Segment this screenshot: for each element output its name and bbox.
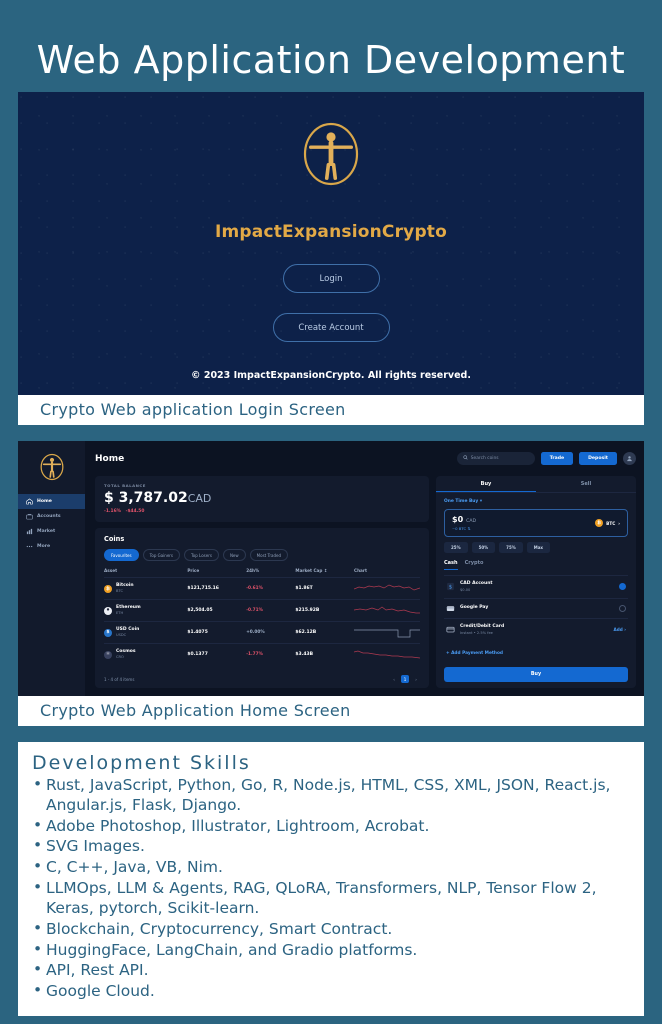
table-header-row: Asset Price 24h% Market Cap ↕ Chart bbox=[104, 568, 420, 578]
avatar[interactable] bbox=[623, 452, 636, 465]
coins-title: Coins bbox=[104, 535, 420, 543]
sidebar-label-accounts: Accounts bbox=[37, 514, 61, 519]
table-row[interactable]: ⚛ Cosmos CRO $0.1377 bbox=[104, 644, 420, 666]
dashboard-main: Home Search coins Trade Deposit bbox=[85, 441, 644, 696]
sparkline-chart bbox=[354, 604, 420, 617]
balance-value: $ 3,787.02 bbox=[104, 490, 188, 506]
table-row[interactable]: $ USD Coin USDC $1.4075 bbox=[104, 622, 420, 644]
payment-name: Google Pay bbox=[460, 605, 488, 611]
coin-price: $2,504.05 bbox=[187, 600, 246, 622]
payment-radio[interactable] bbox=[619, 605, 626, 612]
tab-cash[interactable]: Cash bbox=[444, 560, 458, 570]
tab-crypto[interactable]: Crypto bbox=[465, 560, 484, 570]
sidebar-item-accounts[interactable]: Accounts bbox=[18, 509, 85, 524]
coin-symbol: CRO bbox=[116, 655, 124, 659]
payment-method-cad-account[interactable]: $ CAD Account $0.00 bbox=[444, 575, 628, 598]
slide-root: Web Application Development ImpactExpans… bbox=[0, 0, 662, 1024]
dashboard-caption: Crypto Web Application Home Screen bbox=[18, 696, 644, 726]
chevron-down-icon: ▾ bbox=[480, 499, 482, 504]
sidebar-label-more: More bbox=[37, 544, 50, 549]
sidebar-item-more[interactable]: More bbox=[18, 539, 85, 554]
page-1-button[interactable]: 1 bbox=[401, 675, 409, 683]
coins-table: Asset Price 24h% Market Cap ↕ Chart bbox=[104, 568, 420, 665]
skills-panel: Development Skills Rust, JavaScript, Pyt… bbox=[18, 742, 644, 1016]
payment-method-google-pay[interactable]: Google Pay bbox=[444, 598, 628, 618]
coin-market-cap: $215.92B bbox=[295, 600, 354, 622]
coin-change: -0.71% bbox=[246, 600, 295, 622]
table-row[interactable]: ₿ Bitcoin BTC $121,715.16 bbox=[104, 578, 420, 600]
amount-row: $0CAD bbox=[452, 515, 476, 524]
add-payment-method-button[interactable]: + Add Payment Method bbox=[444, 646, 628, 656]
payment-name: CAD Account bbox=[460, 581, 493, 587]
coin-market-cap: $62.12B bbox=[295, 622, 354, 644]
login-screen: ImpactExpansionCrypto Login Create Accou… bbox=[18, 92, 644, 395]
percent-75-button[interactable]: 75% bbox=[499, 542, 523, 553]
col-market-cap[interactable]: Market Cap ↕ bbox=[295, 568, 354, 578]
submit-buy-button[interactable]: Buy bbox=[444, 667, 628, 682]
cosmos-icon: ⚛ bbox=[104, 651, 112, 659]
vitruvian-logo-icon bbox=[295, 118, 367, 194]
ethereum-icon: ♦ bbox=[104, 607, 112, 615]
skills-list: Rust, JavaScript, Python, Go, R, Node.js… bbox=[32, 776, 630, 1002]
percent-buttons: 25% 50% 75% Max bbox=[444, 542, 628, 553]
percent-25-button[interactable]: 25% bbox=[444, 542, 468, 553]
chart-bar-icon bbox=[26, 528, 33, 535]
dashboard-header: Home Search coins Trade Deposit bbox=[85, 441, 644, 476]
page-prev-button[interactable]: ‹ bbox=[390, 675, 398, 683]
coin-change: -1.77% bbox=[246, 644, 295, 666]
payment-radio-selected[interactable] bbox=[619, 583, 626, 590]
payment-sub: Instant • 2.5% fee bbox=[460, 631, 493, 635]
payment-name: Credit/Debit Card bbox=[460, 624, 504, 630]
coins-card: Coins Favourites Top Gainers Top Losers … bbox=[95, 528, 429, 688]
amount-currency: CAD bbox=[466, 519, 476, 524]
balance-amount: $ 3,787.02CAD bbox=[104, 490, 420, 506]
coin-name: Ethereum bbox=[116, 605, 141, 611]
coin-symbol: USDC bbox=[116, 633, 126, 637]
col-chart: Chart bbox=[354, 568, 420, 578]
header-title: Home bbox=[95, 454, 451, 464]
home-icon bbox=[26, 498, 33, 505]
login-button[interactable]: Login bbox=[283, 264, 380, 293]
coin-symbol: BTC bbox=[116, 589, 123, 593]
sidebar-label-home: Home bbox=[37, 499, 52, 504]
payment-method-credit-card[interactable]: Credit/Debit Card Instant • 2.5% fee Add… bbox=[444, 618, 628, 641]
ellipsis-icon bbox=[26, 543, 33, 550]
frequency-selector[interactable]: One Time Buy ▾ bbox=[444, 499, 628, 504]
coin-selector-label: BTC bbox=[606, 521, 615, 526]
sparkline-chart bbox=[354, 648, 420, 661]
login-caption: Crypto Web application Login Screen bbox=[18, 395, 644, 425]
list-item: Adobe Photoshop, Illustrator, Lightroom,… bbox=[32, 817, 630, 837]
coin-price: $1.4075 bbox=[187, 622, 246, 644]
col-change: 24h% bbox=[246, 568, 295, 578]
amount-input[interactable]: $0CAD ~0 BTC ⇅ ₿ BTC bbox=[444, 509, 628, 537]
payment-tabs: Cash Crypto bbox=[444, 560, 628, 570]
briefcase-icon bbox=[26, 513, 33, 520]
coins-tabs: Favourites Top Gainers Top Losers New Mo… bbox=[104, 549, 420, 561]
tab-new[interactable]: New bbox=[223, 549, 246, 561]
usdcoin-icon: $ bbox=[104, 629, 112, 637]
coin-symbol: ETH bbox=[116, 611, 123, 615]
search-input[interactable]: Search coins bbox=[457, 452, 535, 465]
list-item: Google Cloud. bbox=[32, 982, 630, 1002]
tab-top-gainers[interactable]: Top Gainers bbox=[143, 549, 180, 561]
payment-sub: $0.00 bbox=[460, 588, 470, 592]
balance-change-pct: -1.16% bbox=[104, 509, 121, 514]
wallet-icon bbox=[446, 604, 455, 613]
sparkline-chart bbox=[354, 626, 420, 639]
items-count: 1 - 4 of 4 items bbox=[104, 677, 134, 682]
tab-sell[interactable]: Sell bbox=[536, 476, 636, 492]
amount-converted: ~0 BTC ⇅ bbox=[452, 526, 476, 531]
skills-heading: Development Skills bbox=[32, 752, 630, 774]
left-column: TOTAL BALANCE $ 3,787.02CAD -1.16% -$44.… bbox=[95, 476, 429, 688]
list-item: SVG Images. bbox=[32, 837, 630, 857]
dollar-icon: $ bbox=[446, 582, 455, 591]
dashboard-screen: Home Accounts Market bbox=[18, 441, 644, 696]
search-icon bbox=[463, 455, 468, 462]
list-item: Rust, JavaScript, Python, Go, R, Node.js… bbox=[32, 776, 630, 816]
chevron-right-icon: › bbox=[618, 521, 620, 526]
percent-50-button[interactable]: 50% bbox=[472, 542, 496, 553]
list-item: HuggingFace, LangChain, and Gradio platf… bbox=[32, 941, 630, 961]
col-price: Price bbox=[187, 568, 246, 578]
table-row[interactable]: ♦ Ethereum ETH $2,504.05 bbox=[104, 600, 420, 622]
col-asset: Asset bbox=[104, 568, 187, 578]
order-form: One Time Buy ▾ $0CAD ~0 BTC ⇅ bbox=[436, 493, 636, 656]
coin-name: Cosmos bbox=[116, 649, 136, 655]
bitcoin-icon: ₿ bbox=[595, 519, 603, 527]
card-icon bbox=[446, 625, 455, 634]
balance-currency: CAD bbox=[188, 492, 212, 505]
right-column: Buy Sell One Time Buy ▾ bbox=[436, 476, 636, 688]
sidebar-label-market: Market bbox=[37, 529, 55, 534]
sidebar: Home Accounts Market bbox=[18, 441, 85, 696]
bitcoin-icon: ₿ bbox=[104, 585, 112, 593]
tab-top-losers[interactable]: Top Losers bbox=[184, 549, 219, 561]
table-footer: 1 - 4 of 4 items ‹ 1 › bbox=[104, 670, 420, 683]
amount-value: $0 bbox=[452, 515, 463, 524]
list-item: API, Rest API. bbox=[32, 961, 630, 981]
swap-icon[interactable]: ⇅ bbox=[467, 526, 470, 531]
coin-change: +0.00% bbox=[246, 622, 295, 644]
dashboard-body: TOTAL BALANCE $ 3,787.02CAD -1.16% -$44.… bbox=[85, 476, 644, 696]
coin-price: $121,715.16 bbox=[187, 578, 246, 600]
coin-price: $0.1377 bbox=[187, 644, 246, 666]
brand-name: ImpactExpansionCrypto bbox=[215, 222, 447, 242]
percent-max-button[interactable]: Max bbox=[527, 542, 550, 553]
svg-text:$: $ bbox=[449, 585, 452, 591]
pagination: ‹ 1 › bbox=[390, 675, 420, 683]
page-title: Web Application Development bbox=[0, 0, 662, 92]
deposit-button[interactable]: Deposit bbox=[579, 452, 617, 465]
copyright-footer: © 2023 ImpactExpansionCrypto. All rights… bbox=[18, 370, 644, 381]
tab-favourites[interactable]: Favourites bbox=[104, 549, 139, 561]
coin-change: -0.61% bbox=[246, 578, 295, 600]
sidebar-item-market[interactable]: Market bbox=[18, 524, 85, 539]
add-card-button[interactable]: Add › bbox=[614, 627, 626, 632]
order-panel: Buy Sell One Time Buy ▾ bbox=[436, 476, 636, 688]
balance-change-abs: -$44.50 bbox=[126, 509, 145, 514]
tab-buy[interactable]: Buy bbox=[436, 476, 536, 492]
login-screenshot: ImpactExpansionCrypto Login Create Accou… bbox=[18, 92, 644, 425]
sidebar-item-home[interactable]: Home bbox=[18, 494, 85, 509]
coin-market-cap: $3.43B bbox=[295, 644, 354, 666]
tab-most-traded[interactable]: Most Traded bbox=[250, 549, 288, 561]
balance-change: -1.16% -$44.50 bbox=[104, 509, 420, 514]
sidebar-logo-icon bbox=[18, 447, 85, 494]
list-item: C, C++, Java, VB, Nim. bbox=[32, 858, 630, 878]
coin-name: USD Coin bbox=[116, 627, 139, 633]
dashboard-screenshot: Home Accounts Market bbox=[18, 441, 644, 726]
coin-name: Bitcoin bbox=[116, 583, 134, 589]
coin-market-cap: $1.86T bbox=[295, 578, 354, 600]
balance-label: TOTAL BALANCE bbox=[104, 483, 420, 488]
chevron-right-icon: › bbox=[624, 627, 626, 632]
balance-card: TOTAL BALANCE $ 3,787.02CAD -1.16% -$44.… bbox=[95, 476, 429, 522]
coin-selector[interactable]: ₿ BTC › bbox=[595, 519, 620, 527]
search-placeholder: Search coins bbox=[471, 456, 499, 461]
buy-sell-tabs: Buy Sell bbox=[436, 476, 636, 493]
page-next-button[interactable]: › bbox=[412, 675, 420, 683]
list-item: Blockchain, Cryptocurrency, Smart Contra… bbox=[32, 920, 630, 940]
create-account-button[interactable]: Create Account bbox=[273, 313, 390, 342]
trade-button[interactable]: Trade bbox=[541, 452, 573, 465]
sparkline-chart bbox=[354, 582, 420, 595]
list-item: LLMOps, LLM & Agents, RAG, QLoRA, Transf… bbox=[32, 879, 630, 919]
payment-method-list: $ CAD Account $0.00 bbox=[444, 575, 628, 641]
